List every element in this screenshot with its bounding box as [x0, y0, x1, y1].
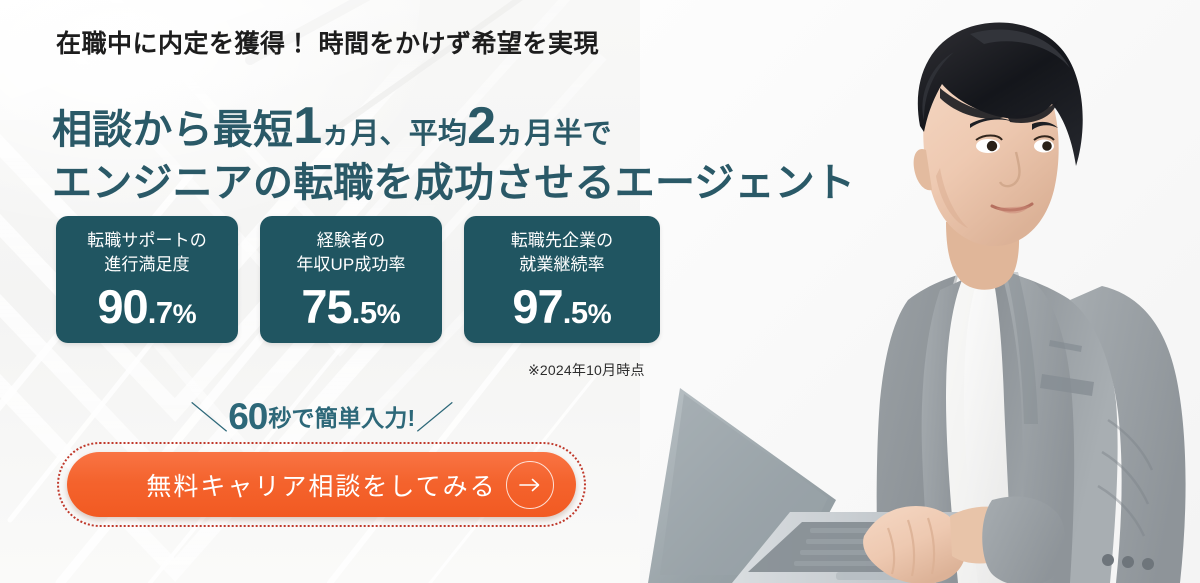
- stat-value-integer: 90: [97, 283, 147, 330]
- stat-value-decimal: .5: [352, 297, 377, 328]
- stat-label-line-2: 就業継続率: [519, 253, 605, 277]
- kicker-slash-right: ／: [415, 393, 457, 439]
- headline-text-c: ヵ月半で: [495, 118, 612, 150]
- stat-card: 経験者の 年収UP成功率 75.5%: [260, 216, 442, 343]
- stat-card: 転職先企業の 就業継続率 97.5%: [464, 216, 660, 343]
- stat-value: 90.7%: [97, 283, 196, 330]
- stat-label-line-2: 年収UP成功率: [296, 253, 405, 277]
- stat-card: 転職サポートの 進行満足度 90.7%: [56, 216, 238, 343]
- stat-value: 97.5%: [512, 283, 611, 330]
- stat-value-unit: %: [588, 301, 612, 328]
- hero-photo: [640, 0, 1200, 583]
- headline-line-2: エンジニアの転職を成功させるエージェント: [52, 157, 855, 211]
- cta-button-label: 無料キャリア相談をしてみる: [146, 467, 496, 503]
- stat-value: 75.5%: [301, 283, 400, 330]
- headline-number-2: 2: [467, 97, 495, 155]
- stat-value-integer: 97: [512, 283, 562, 330]
- stat-value-unit: %: [173, 301, 197, 328]
- stat-label-line-1: 経験者の: [317, 229, 385, 253]
- kicker-number: 60: [228, 398, 267, 435]
- headline-line-1: 相談から最短1ヵ月、平均2ヵ月半で: [52, 103, 855, 158]
- headline-text-a: 相談から最短: [52, 108, 293, 152]
- stat-value-decimal: .7: [148, 297, 173, 328]
- businessman-laptop-illustration: [640, 0, 1200, 583]
- stats-footnote: ※2024年10月時点: [528, 360, 645, 380]
- headline-number-1: 1: [293, 97, 321, 155]
- hero-eyebrow: 在職中に内定を獲得！ 時間をかけず希望を実現: [56, 24, 599, 60]
- stat-label-line-1: 転職先企業の: [511, 229, 614, 253]
- headline-text-b: ヵ月、平均: [321, 118, 467, 150]
- kicker-text: 秒で簡単入力!: [268, 399, 415, 433]
- hero-headline: 相談から最短1ヵ月、平均2ヵ月半で エンジニアの転職を成功させるエージェント: [52, 103, 855, 211]
- stat-label-line-2: 進行満足度: [104, 253, 190, 277]
- stat-value-decimal: .5: [563, 297, 588, 328]
- arrow-right-icon: [506, 461, 554, 509]
- hero-content: 在職中に内定を獲得！ 時間をかけず希望を実現 相談から最短1ヵ月、平均2ヵ月半で…: [0, 0, 700, 583]
- stat-value-unit: %: [377, 301, 401, 328]
- stat-label-line-1: 転職サポートの: [87, 229, 207, 253]
- hero-section: 在職中に内定を獲得！ 時間をかけず希望を実現 相談から最短1ヵ月、平均2ヵ月半で…: [0, 0, 1200, 583]
- cta-kicker: ＼60秒で簡単入力!／: [193, 393, 452, 439]
- stat-value-integer: 75: [301, 283, 351, 330]
- kicker-slash-left: ＼: [188, 393, 230, 439]
- cta-container: 無料キャリア相談をしてみる: [57, 442, 586, 527]
- free-career-consultation-button[interactable]: 無料キャリア相談をしてみる: [67, 452, 576, 517]
- stat-card-group: 転職サポートの 進行満足度 90.7% 経験者の 年収UP成功率 75.5% 転…: [56, 216, 660, 343]
